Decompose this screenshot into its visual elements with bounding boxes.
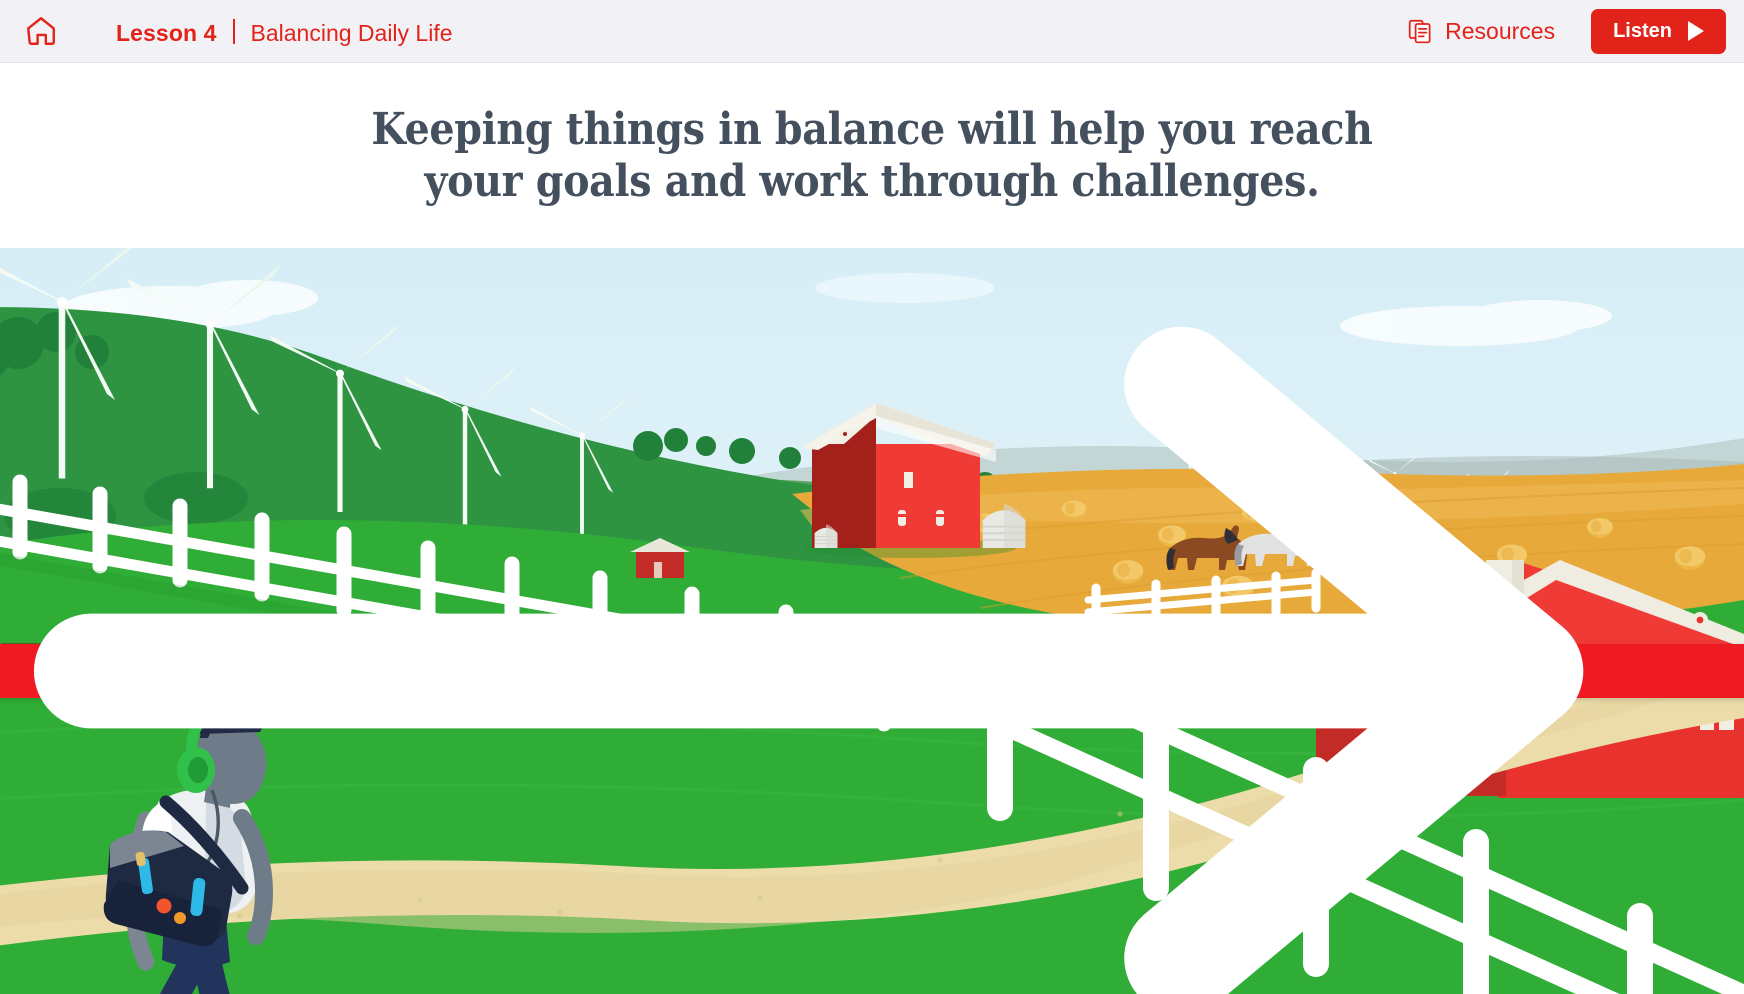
lesson-illustration: NEXT	[0, 248, 1744, 994]
header-actions: Resources Listen	[1408, 9, 1726, 54]
lesson-title: Balancing Daily Life	[251, 20, 453, 47]
next-button[interactable]: NEXT	[0, 644, 1744, 698]
breadcrumb-divider	[233, 19, 235, 44]
resources-label: Resources	[1445, 18, 1555, 45]
listen-label: Listen	[1613, 20, 1672, 43]
resources-button[interactable]: Resources	[1408, 17, 1555, 45]
app-header: Lesson 4 Balancing Daily Life Resources …	[0, 0, 1744, 63]
lesson-page: Lesson 4 Balancing Daily Life Resources …	[0, 0, 1744, 994]
home-icon	[24, 14, 58, 48]
headline-section: Keeping things in balance will help you …	[0, 63, 1744, 248]
listen-button[interactable]: Listen	[1591, 9, 1726, 54]
home-button[interactable]	[18, 8, 64, 54]
arrow-right-icon	[0, 298, 1738, 994]
breadcrumb: Lesson 4 Balancing Daily Life	[116, 16, 453, 47]
play-icon	[1688, 21, 1704, 41]
documents-icon	[1408, 17, 1434, 45]
lesson-number: Lesson 4	[116, 20, 217, 47]
page-title: Keeping things in balance will help you …	[332, 104, 1412, 206]
